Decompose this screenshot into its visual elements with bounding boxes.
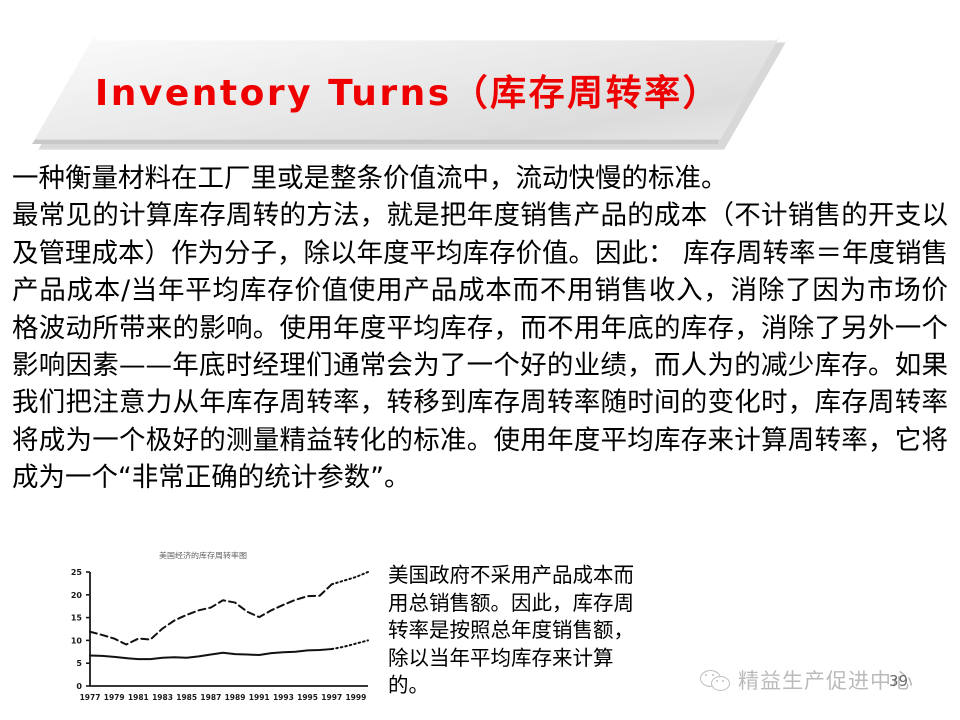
svg-text:0: 0 [76, 682, 82, 691]
svg-text:10: 10 [71, 636, 83, 645]
svg-text:1989: 1989 [225, 693, 246, 702]
svg-text:1981: 1981 [128, 693, 149, 702]
chart-series [90, 572, 368, 659]
svg-text:15: 15 [71, 614, 83, 623]
body-text-block: 一种衡量材料在工厂里或是整条价值流中，流动快慢的标准。 最常见的计算库存周转的方… [12, 160, 948, 497]
svg-text:1991: 1991 [249, 693, 270, 702]
svg-text:1993: 1993 [273, 693, 294, 702]
chart-axes [90, 572, 368, 686]
svg-text:5: 5 [76, 659, 82, 668]
chart-title: 美国经济的库存周转率图 [28, 550, 378, 560]
wechat-icon [700, 669, 730, 691]
chart-series-line-1 [332, 640, 368, 649]
svg-text:1979: 1979 [104, 693, 125, 702]
slide-title-banner: Inventory Turns（库存周转率） [32, 36, 780, 144]
watermark: 精益生产促进中心 [700, 662, 950, 698]
chart-series-line-1 [90, 649, 332, 659]
chart-y-tick-labels: 0510152025 [71, 568, 83, 691]
svg-text:20: 20 [71, 591, 83, 600]
svg-text:1997: 1997 [321, 693, 342, 702]
svg-text:1987: 1987 [200, 693, 221, 702]
chart-plot-area: 0510152025 19771979198119831985198719891… [28, 564, 378, 710]
svg-text:1995: 1995 [297, 693, 318, 702]
chart-series-line-0 [332, 572, 368, 584]
page-title: Inventory Turns（库存周转率） [34, 36, 782, 144]
chart-series-line-0 [90, 584, 332, 644]
svg-text:1983: 1983 [152, 693, 173, 702]
chart-caption: 美国政府不采用产品成本而用总销售额。因此，库存周转率是按照总年度销售额，除以当年… [388, 562, 650, 700]
chart-x-tick-labels: 1977197919811983198519871989199119931995… [80, 693, 367, 702]
svg-text:1985: 1985 [176, 693, 197, 702]
watermark-label: 精益生产促进中心 [738, 665, 914, 695]
body-paragraph-2: 最常见的计算库存周转的方法，就是把年度销售产品的成本（不计销售的开支以及管理成本… [12, 197, 948, 496]
svg-text:1977: 1977 [80, 693, 101, 702]
svg-text:25: 25 [71, 568, 83, 577]
body-paragraph-1: 一种衡量材料在工厂里或是整条价值流中，流动快慢的标准。 [12, 160, 948, 197]
svg-text:1999: 1999 [345, 693, 366, 702]
inventory-turns-chart: 美国经济的库存周转率图 0510152025 19771979198119831… [28, 550, 378, 710]
page-number: 39 [889, 672, 908, 690]
